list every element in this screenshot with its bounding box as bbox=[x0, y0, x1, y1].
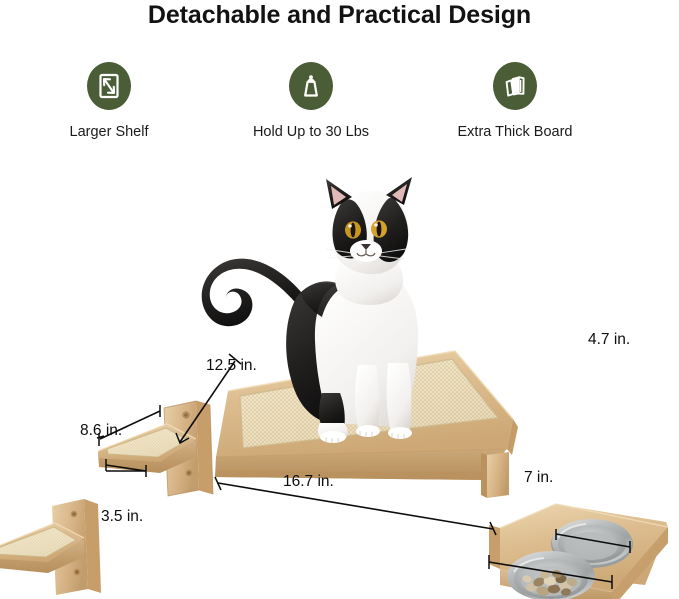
dimension-label-bowl-diameter: 4.7 in. bbox=[588, 331, 630, 349]
feature-label: Extra Thick Board bbox=[415, 123, 615, 141]
feature-label: Larger Shelf bbox=[9, 123, 209, 141]
feature-thick-board: Extra Thick Board bbox=[415, 62, 615, 141]
feature-label: Hold Up to 30 Lbs bbox=[211, 123, 411, 141]
expand-arrows-icon bbox=[87, 62, 131, 110]
dimension-label-depth-bowl-station: 7 in. bbox=[524, 469, 553, 487]
dimension-label-depth-small-shelf: 8.6 in. bbox=[80, 422, 122, 440]
product-infographic: Detachable and Practical Design Larger S… bbox=[0, 0, 679, 599]
dimension-label-width-small-shelf: 3.5 in. bbox=[101, 508, 143, 526]
board-stack-icon bbox=[493, 62, 537, 110]
dimension-label-depth-large-shelf: 12.5 in. bbox=[206, 357, 257, 375]
feature-weight-capacity: Hold Up to 30 Lbs bbox=[211, 62, 411, 141]
bowl-front-with-food bbox=[507, 551, 595, 599]
large-shelf-right-support bbox=[487, 452, 509, 498]
dim-line-16-7 bbox=[218, 483, 493, 529]
dimension-label-width-large-shelf: 16.7 in. bbox=[283, 473, 334, 491]
weight-icon bbox=[289, 62, 333, 110]
product-photo bbox=[0, 165, 679, 599]
page-title: Detachable and Practical Design bbox=[0, 0, 679, 30]
feature-larger-shelf: Larger Shelf bbox=[9, 62, 209, 141]
small-step-shelf-upper bbox=[98, 401, 213, 496]
small-step-shelf-lower bbox=[0, 499, 101, 595]
